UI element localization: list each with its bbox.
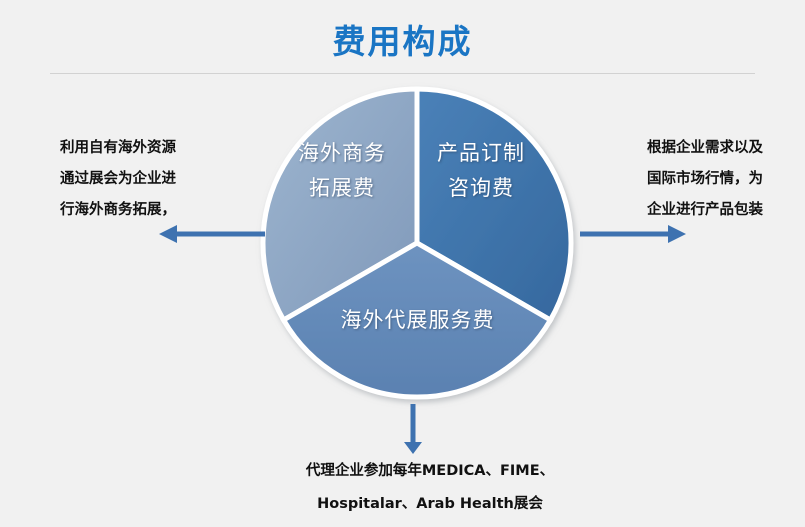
arrow-left-icon <box>155 222 265 246</box>
callout-left-line-1: 利用自有海外资源 <box>60 133 250 164</box>
callout-right-line-1: 根据企业需求以及 <box>612 133 798 164</box>
title-divider <box>50 73 755 74</box>
callout-right: 根据企业需求以及 国际市场行情，为 企业进行产品包装 <box>612 133 798 226</box>
arrow-down-icon <box>400 404 426 456</box>
page-title: 费用构成 <box>0 22 805 62</box>
callout-left: 利用自有海外资源 通过展会为企业进 行海外商务拓展， <box>60 133 250 226</box>
callout-left-line-2: 通过展会为企业进 <box>60 164 250 195</box>
callout-bottom-line-1: 代理企业参加每年MEDICA、FIME、 <box>250 455 610 488</box>
arrow-right-icon <box>580 222 690 246</box>
callout-bottom: 代理企业参加每年MEDICA、FIME、 Hospitalar、Arab Hea… <box>250 455 610 521</box>
slide-canvas: 费用构成 <box>0 0 805 527</box>
callout-right-line-2: 国际市场行情，为 <box>612 164 798 195</box>
callout-bottom-line-2: Hospitalar、Arab Health展会 <box>250 488 610 521</box>
pie-chart <box>261 87 573 399</box>
